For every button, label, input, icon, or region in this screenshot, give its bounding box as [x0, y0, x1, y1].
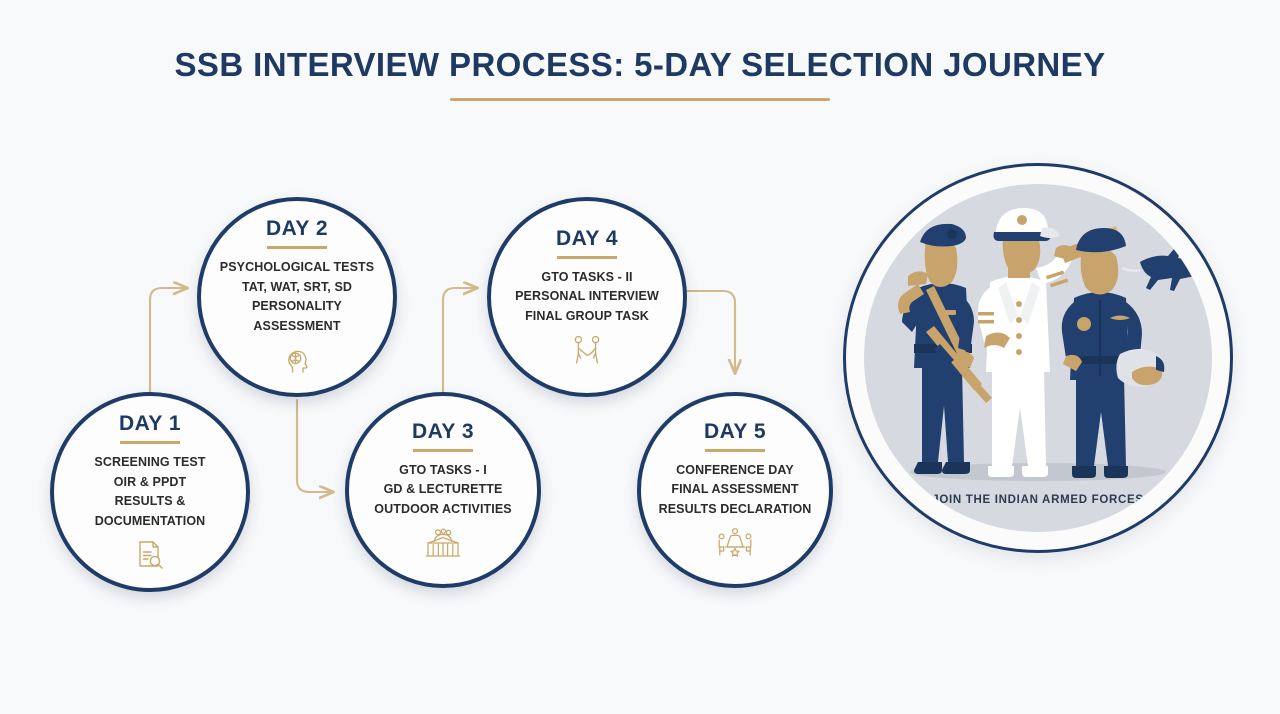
day-node-1[interactable]: DAY 1 SCREENING TEST OIR & PPDT RESULTS … [50, 392, 250, 592]
infographic-canvas: SSB INTERVIEW PROCESS: 5-DAY SELECTION J… [0, 0, 1280, 714]
day-1-divider [120, 441, 180, 444]
day-2-line-1: PSYCHOLOGICAL TESTS [220, 258, 374, 278]
day-2-divider [267, 246, 327, 249]
badge-caption: JOIN THE INDIAN ARMED FORCES [864, 494, 1212, 506]
conference-table-icon [716, 527, 754, 559]
day-node-3[interactable]: DAY 3 GTO TASKS - I GD & LECTURETTE OUTD… [345, 392, 541, 588]
day-2-line-3: PERSONALITY [220, 297, 374, 317]
document-search-icon [136, 539, 164, 571]
day-3-description: GTO TASKS - I GD & LECTURETTE OUTDOOR AC… [374, 461, 511, 520]
day-4-divider [557, 256, 617, 259]
day-2-label: DAY 2 [266, 218, 328, 239]
day-3-divider [413, 449, 473, 452]
day-3-line-1: GTO TASKS - I [374, 461, 511, 481]
page-title-block: SSB INTERVIEW PROCESS: 5-DAY SELECTION J… [0, 46, 1280, 101]
army-soldier-saluting [898, 224, 992, 474]
connector-day3-day4 [443, 288, 476, 392]
day-4-line-1: GTO TASKS - II [515, 268, 659, 288]
day-5-line-3: RESULTS DECLARATION [659, 500, 812, 520]
day-2-line-2: TAT, WAT, SRT, SD [220, 278, 374, 298]
airforce-pilot-helmet [1062, 228, 1203, 478]
day-5-label: DAY 5 [704, 421, 766, 442]
day-1-line-4: DOCUMENTATION [94, 512, 205, 532]
day-3-line-3: OUTDOOR ACTIVITIES [374, 500, 511, 520]
connector-day2-day3 [297, 400, 332, 492]
day-5-divider [705, 449, 765, 452]
page-title: SSB INTERVIEW PROCESS: 5-DAY SELECTION J… [0, 46, 1280, 84]
day-1-label: DAY 1 [119, 413, 181, 434]
day-node-5[interactable]: DAY 5 CONFERENCE DAY FINAL ASSESSMENT RE… [637, 392, 833, 588]
day-1-line-3: RESULTS & [94, 492, 205, 512]
day-2-line-4: ASSESSMENT [220, 317, 374, 337]
title-divider [450, 98, 830, 101]
day-3-line-2: GD & LECTURETTE [374, 480, 511, 500]
day-node-2[interactable]: DAY 2 PSYCHOLOGICAL TESTS TAT, WAT, SRT,… [197, 197, 397, 397]
day-1-line-1: SCREENING TEST [94, 453, 205, 473]
badge-inner-disk: JOIN THE INDIAN ARMED FORCES [864, 184, 1212, 532]
day-4-line-3: FINAL GROUP TASK [515, 307, 659, 327]
fighter-jet [1140, 242, 1203, 291]
brain-head-icon [282, 344, 312, 376]
armed-forces-illustration [864, 184, 1212, 532]
day-5-description: CONFERENCE DAY FINAL ASSESSMENT RESULTS … [659, 461, 812, 520]
day-5-line-2: FINAL ASSESSMENT [659, 480, 812, 500]
handshake-icon [570, 334, 604, 366]
connector-day1-day2 [150, 288, 186, 392]
day-5-line-1: CONFERENCE DAY [659, 461, 812, 481]
day-4-description: GTO TASKS - II PERSONAL INTERVIEW FINAL … [515, 268, 659, 327]
day-4-line-2: PERSONAL INTERVIEW [515, 287, 659, 307]
day-1-line-2: OIR & PPDT [94, 473, 205, 493]
day-3-label: DAY 3 [412, 421, 474, 442]
day-4-label: DAY 4 [556, 228, 618, 249]
armed-forces-badge: JOIN THE INDIAN ARMED FORCES [843, 163, 1233, 553]
day-2-description: PSYCHOLOGICAL TESTS TAT, WAT, SRT, SD PE… [220, 258, 374, 337]
day-1-description: SCREENING TEST OIR & PPDT RESULTS & DOCU… [94, 453, 205, 532]
obstacle-bridge-icon [424, 527, 462, 559]
day-node-4[interactable]: DAY 4 GTO TASKS - II PERSONAL INTERVIEW … [487, 197, 687, 397]
